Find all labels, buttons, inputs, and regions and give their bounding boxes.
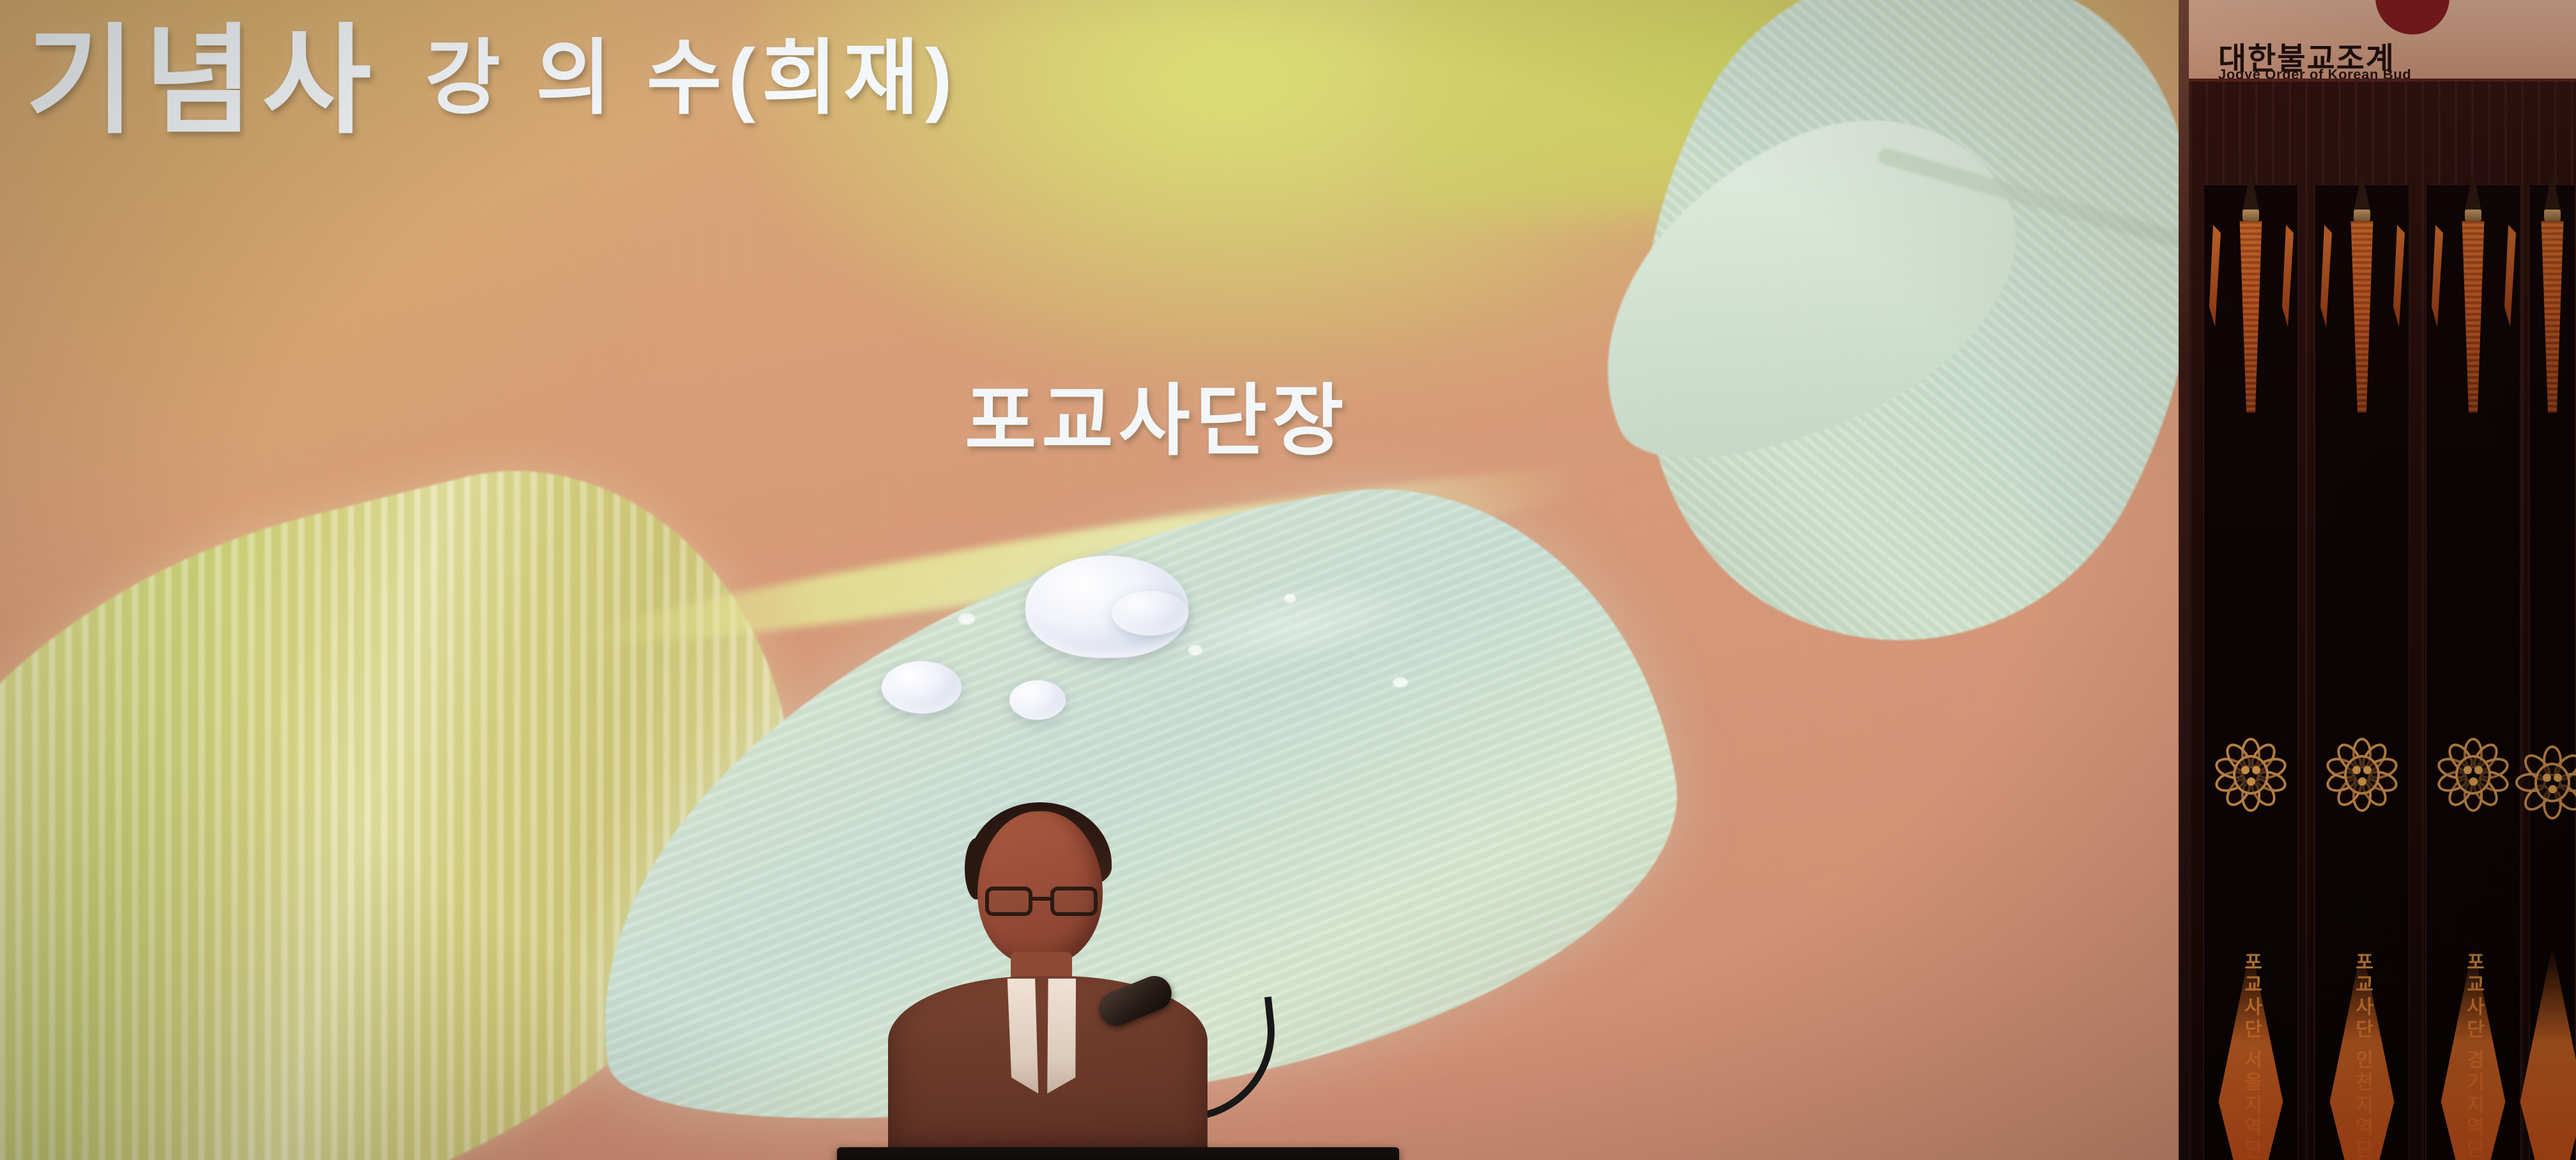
speaker-at-podium	[850, 792, 1361, 1160]
banner-finial-icon	[2354, 171, 2370, 211]
lotus-icon	[2517, 747, 2576, 818]
banner-finial-band	[2242, 210, 2259, 221]
hall-right-wall: 대한불교조계 Jogye Order of Korean Bud	[2179, 0, 2576, 1160]
lotus-icon	[2433, 735, 2513, 815]
slide-title-row: 기념사 강 의 수(희재)	[26, 11, 1942, 151]
banner-flame-motif	[2435, 945, 2511, 1160]
banner-tassel-wisp	[2281, 225, 2294, 327]
jogye-sign-english: Jogye Order of Korean Bud	[2218, 66, 2411, 82]
banner-finial-band	[2354, 210, 2370, 221]
jogye-emblem-icon	[2375, 0, 2449, 34]
ceremonial-banner: 포교사단 인천지역단	[2314, 185, 2410, 1160]
lotus-core	[2233, 755, 2269, 795]
banner-flame-motif	[2212, 945, 2289, 1160]
photo-scene: 기념사 강 의 수(희재) 포교사단장	[0, 0, 2576, 1160]
ceremonial-banner: 포교사단 서울지역단	[2203, 185, 2299, 1160]
banner-tassel-wisp	[2319, 225, 2332, 327]
lotus-icon	[2322, 735, 2402, 815]
slide-title-speaker: 강 의 수(희재)	[425, 11, 958, 130]
eyeglass-lens-left	[985, 887, 1032, 916]
banner-tassel-wisp	[2208, 225, 2221, 327]
eyeglasses-icon	[985, 887, 1098, 916]
banner-tassel	[2343, 221, 2380, 413]
banner-tassel-wisp	[2392, 225, 2405, 327]
lotus-core	[2534, 763, 2570, 802]
lotus-icon	[2211, 735, 2291, 815]
banner-finial-icon	[2465, 171, 2481, 211]
banner-tassel	[2232, 221, 2269, 413]
eyeglass-bridge	[1032, 897, 1050, 901]
banner-tassel	[2534, 221, 2571, 413]
banner-tassel-wisp	[2430, 225, 2443, 327]
eyeglass-lens-right	[1050, 887, 1098, 916]
lotus-core	[2455, 755, 2491, 795]
banner-finial-band	[2544, 210, 2561, 221]
banner-finial-icon	[2242, 171, 2259, 211]
slide-title-main: 기념사	[26, 11, 380, 151]
banner-flame-motif	[2324, 945, 2400, 1160]
banner-tassel-wisp	[2503, 225, 2516, 327]
podium-desktop	[837, 1147, 1399, 1160]
banner-finial-band	[2465, 210, 2481, 221]
projection-screen: 기념사 강 의 수(희재) 포교사단장	[0, 0, 2179, 1160]
jogye-order-sign: 대한불교조계 Jogye Order of Korean Bud	[2189, 0, 2576, 82]
banner-finial-icon	[2544, 171, 2561, 211]
ceremonial-banner-partial	[2529, 185, 2576, 1160]
slide-title-role: 포교사단장	[965, 358, 1349, 471]
wall-edge	[2179, 0, 2189, 1160]
lotus-core	[2344, 755, 2380, 795]
banner-tassel	[2455, 221, 2492, 413]
ceremonial-banner: 포교사단 경기지역단	[2425, 185, 2521, 1160]
